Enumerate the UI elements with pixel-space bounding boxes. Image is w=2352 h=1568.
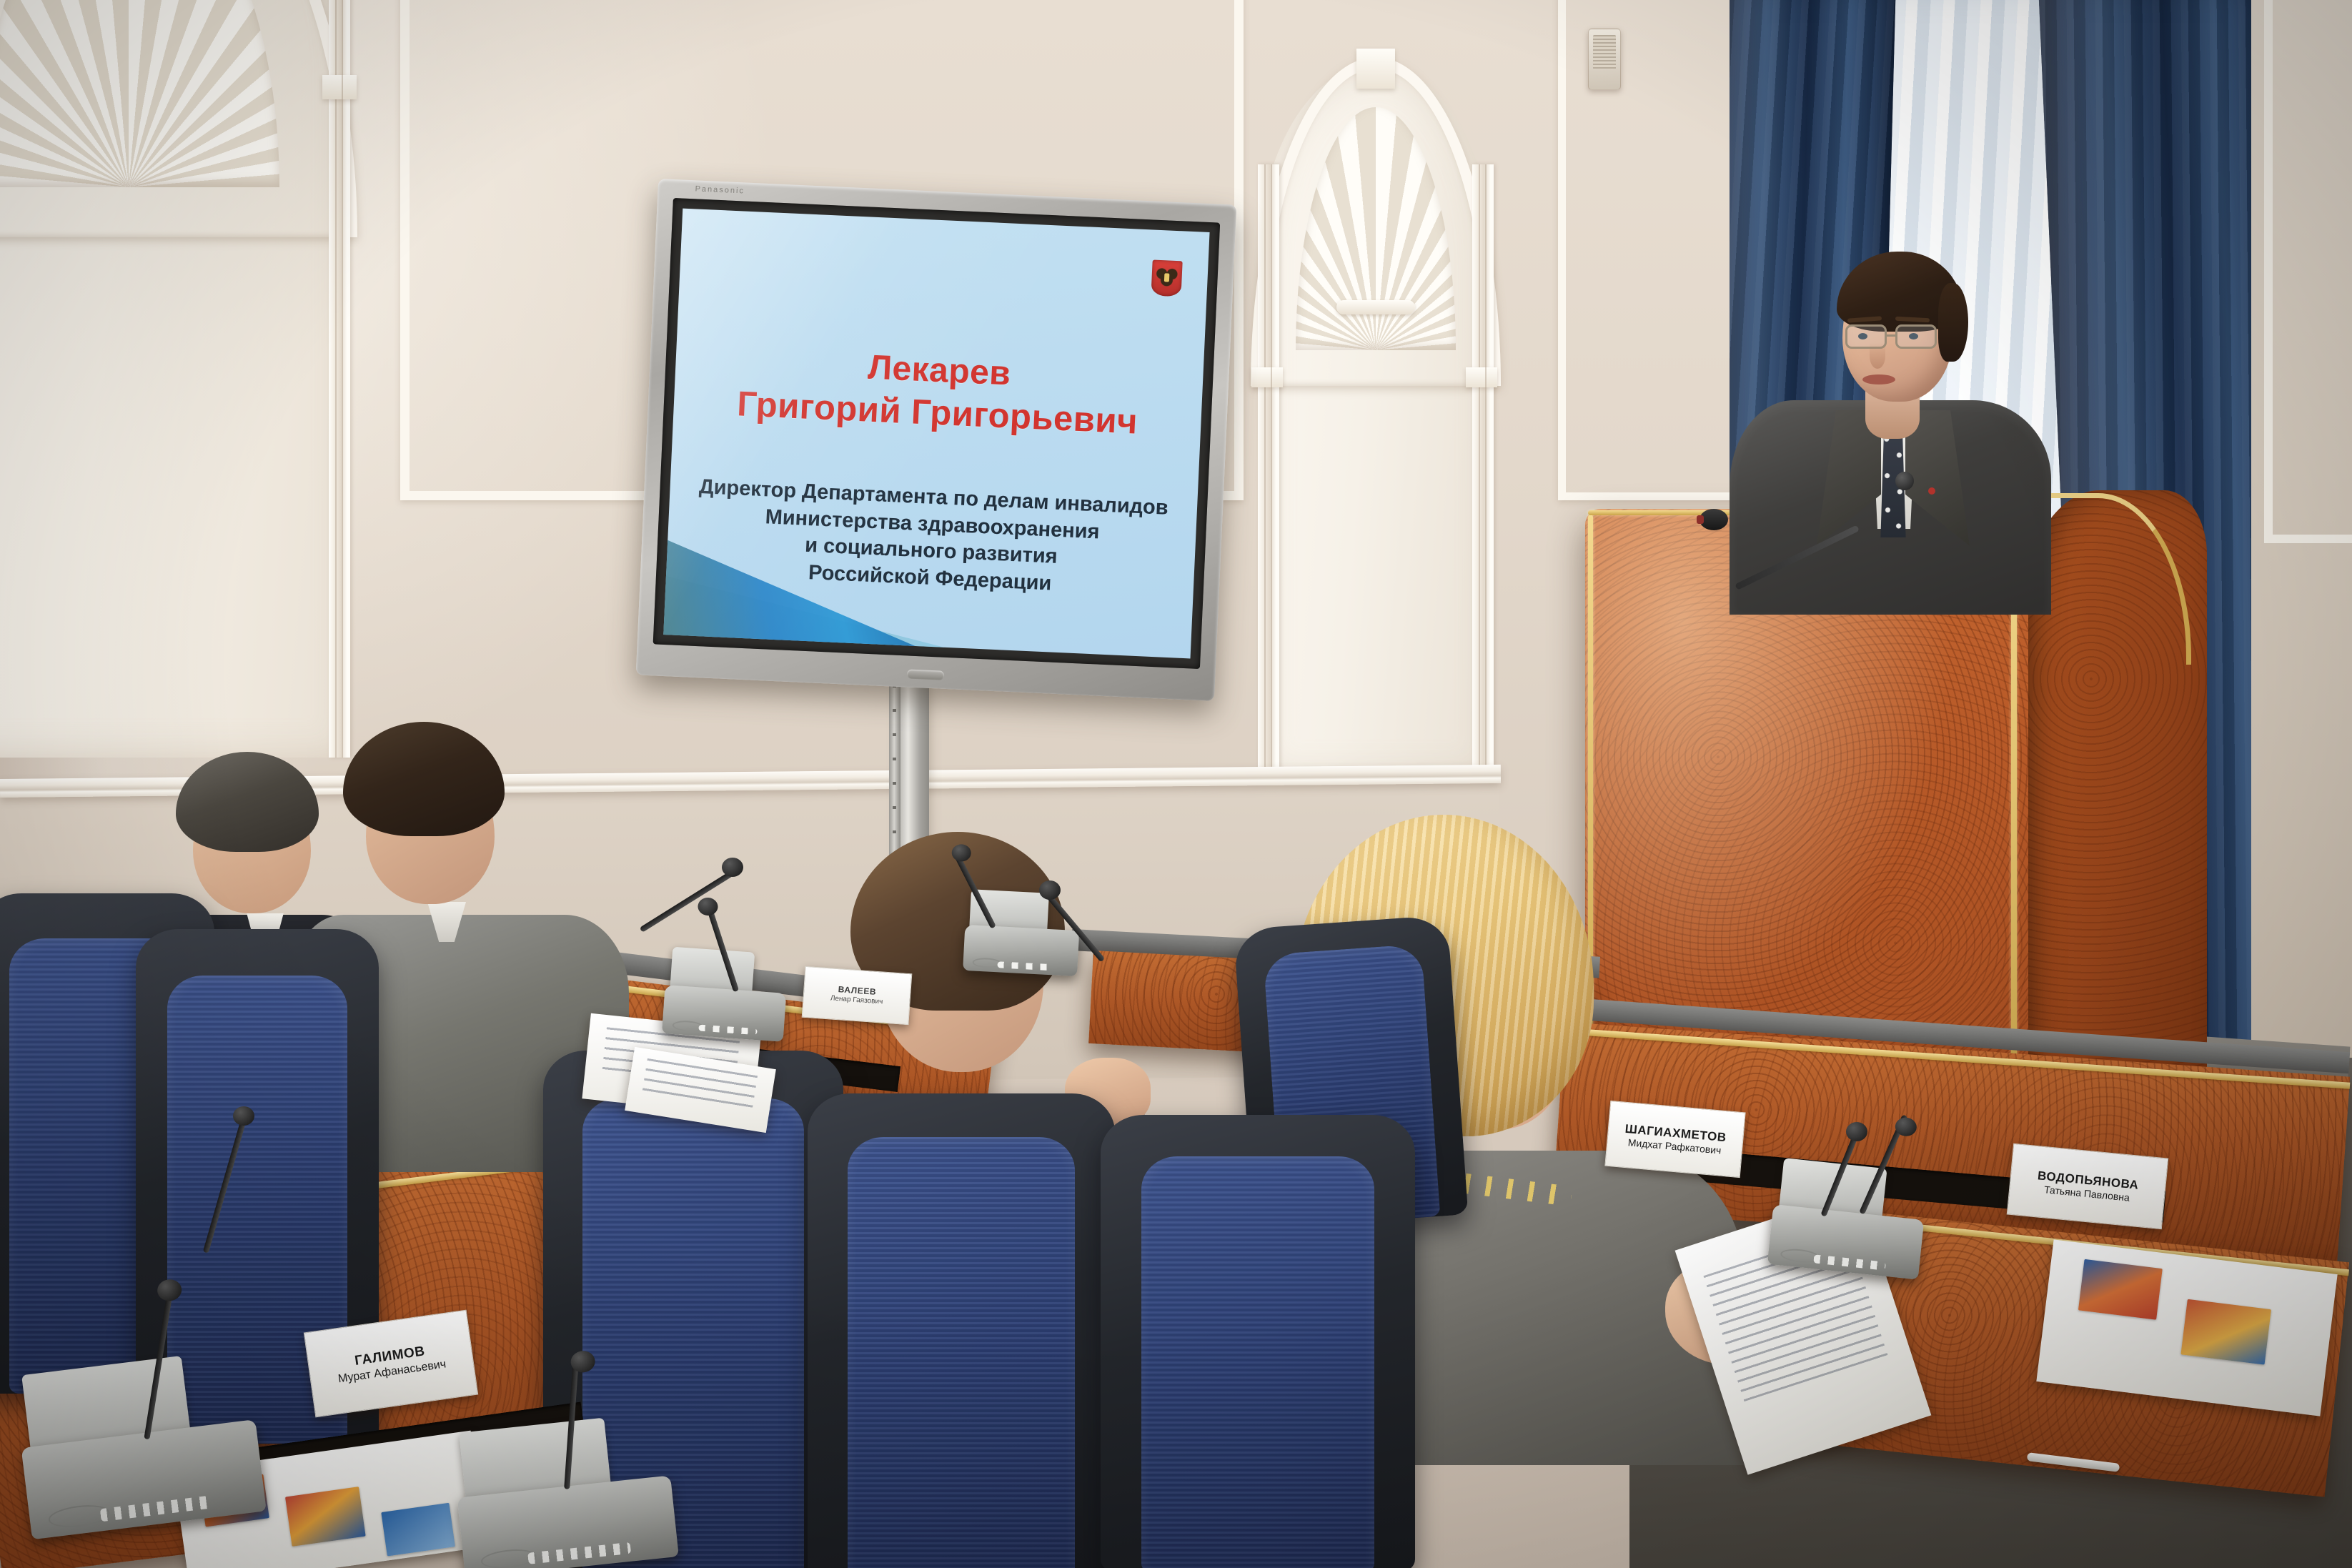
slide-given-patronymic: Григорий Григорьевич [673, 380, 1202, 447]
slide-surname: Лекарев [867, 349, 1011, 393]
podium-microphone-icon [1700, 509, 1728, 530]
speaker-lapel-pin [1928, 487, 1935, 495]
microphone-console-front-left[interactable] [12, 1348, 267, 1540]
wall-panel-frame-far-right [2264, 0, 2352, 543]
ceiling-speaker-icon [1588, 29, 1621, 90]
slide-position-title: Директор Департамента по делам инвалидов… [682, 473, 1182, 603]
microphone-console-right[interactable] [1767, 1157, 1930, 1279]
microphone-console-middle[interactable] [963, 889, 1081, 976]
slide-screen: Лекарев Григорий Григорьевич Директор Де… [663, 209, 1209, 659]
nameplate-vodopyanova: ВОДОПЬЯНОВА Татьяна Павловна [2007, 1143, 2169, 1229]
wall-niche-left [0, 0, 350, 758]
keystone-ornament [1356, 49, 1395, 89]
podium-microphone-secondary-icon [1895, 472, 1914, 490]
slide-speaker-name: Лекарев Григорий Григорьевич [673, 338, 1204, 447]
speaker-person [1737, 236, 2044, 550]
attendee-left-2-hair [343, 722, 505, 836]
coat-of-arms-icon [1151, 259, 1182, 297]
monitor-power-indicator [907, 669, 945, 680]
nameplate-back: ВАЛЕЕВ Ленар Гаязович [802, 966, 913, 1025]
speaker-mouth [1862, 374, 1895, 384]
microphone-console-front-center[interactable] [450, 1411, 679, 1568]
chair-center[interactable] [808, 1093, 1115, 1568]
wall-niche-center [1258, 64, 1494, 779]
speaker-eyeglass-bridge [1886, 334, 1897, 337]
attendee-left-1-hair [176, 752, 319, 852]
chair-center-right[interactable] [1101, 1115, 1415, 1568]
microphone-console-left-middle[interactable] [662, 946, 789, 1042]
speaker-nose [1870, 343, 1885, 369]
nameplate-shagiahmetov: ШАГИАХМЕТОВ Мидхат Рафкатович [1604, 1101, 1745, 1178]
speaker-eyeglass-right [1895, 324, 1937, 349]
presentation-monitor[interactable]: Panasonic Лекарев Григорий Григорьевич Д… [636, 179, 1237, 701]
conference-hall-photo: Panasonic Лекарев Григорий Григорьевич Д… [0, 0, 2352, 1568]
